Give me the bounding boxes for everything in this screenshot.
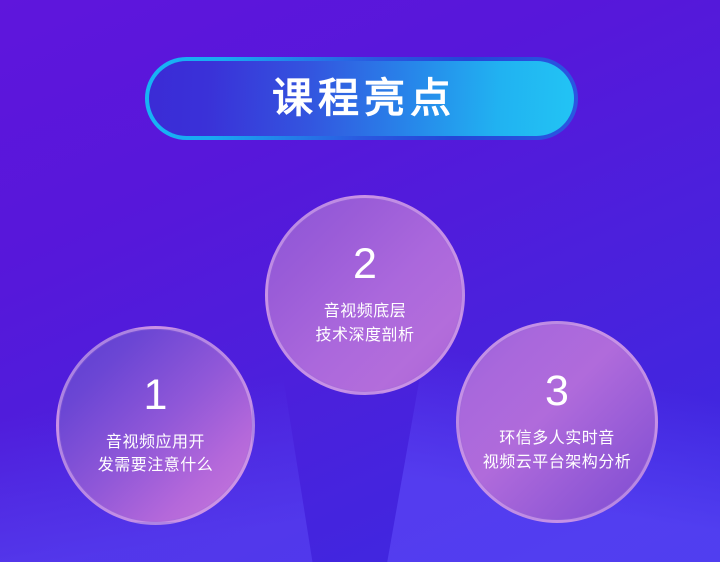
highlight-caption-line: 视频云平台架构分析 bbox=[483, 451, 632, 474]
highlight-caption-1: 音视频应用开 发需要注意什么 bbox=[84, 431, 228, 477]
course-highlights-poster: 课程亮点 1 音视频应用开 发需要注意什么 2 音视频底层 技术深度剖析 3 环… bbox=[0, 0, 720, 562]
highlight-caption-line: 环信多人实时音 bbox=[483, 427, 632, 450]
title-banner-inner: 课程亮点 bbox=[149, 61, 574, 136]
highlight-number-3: 3 bbox=[545, 370, 569, 413]
highlight-caption-2: 音视频底层 技术深度剖析 bbox=[301, 300, 428, 346]
highlight-circle-3[interactable]: 3 环信多人实时音 视频云平台架构分析 bbox=[456, 321, 658, 523]
highlight-caption-3: 环信多人实时音 视频云平台架构分析 bbox=[477, 427, 638, 473]
page-title: 课程亮点 bbox=[267, 78, 456, 119]
highlight-circle-1[interactable]: 1 音视频应用开 发需要注意什么 bbox=[56, 326, 255, 525]
highlight-circle-2[interactable]: 2 音视频底层 技术深度剖析 bbox=[265, 195, 465, 395]
highlight-caption-line: 技术深度剖析 bbox=[315, 324, 414, 347]
highlight-caption-line: 音视频应用开 bbox=[98, 431, 214, 454]
highlight-number-2: 2 bbox=[353, 243, 377, 286]
highlight-caption-line: 发需要注意什么 bbox=[98, 454, 214, 477]
title-banner: 课程亮点 bbox=[145, 57, 578, 140]
highlight-number-1: 1 bbox=[144, 374, 168, 417]
highlight-caption-line: 音视频底层 bbox=[315, 300, 414, 323]
